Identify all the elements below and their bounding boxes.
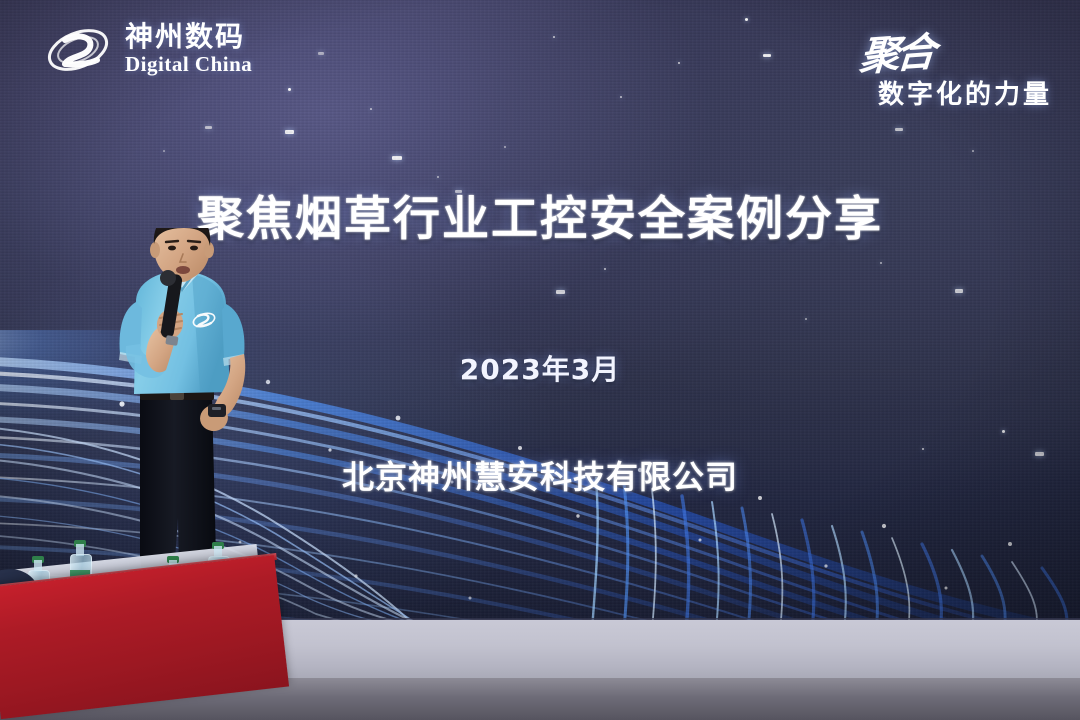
brand-name-cn: 神州数码 xyxy=(125,23,252,51)
brand-name-en: Digital China xyxy=(125,54,252,75)
swirl-spiral-logo-icon xyxy=(45,20,115,78)
slogan-calligraphy: 聚合 xyxy=(858,20,935,83)
event-slogan: 聚合 数字化的力量 xyxy=(860,22,1052,111)
brand-logo: 神州数码 Digital China xyxy=(45,20,252,78)
presentation-clicker-icon xyxy=(208,404,226,417)
conference-photo-scene: 神州数码 Digital China 聚合 数字化的力量 聚焦烟草行业工控安全案… xyxy=(0,0,1080,720)
